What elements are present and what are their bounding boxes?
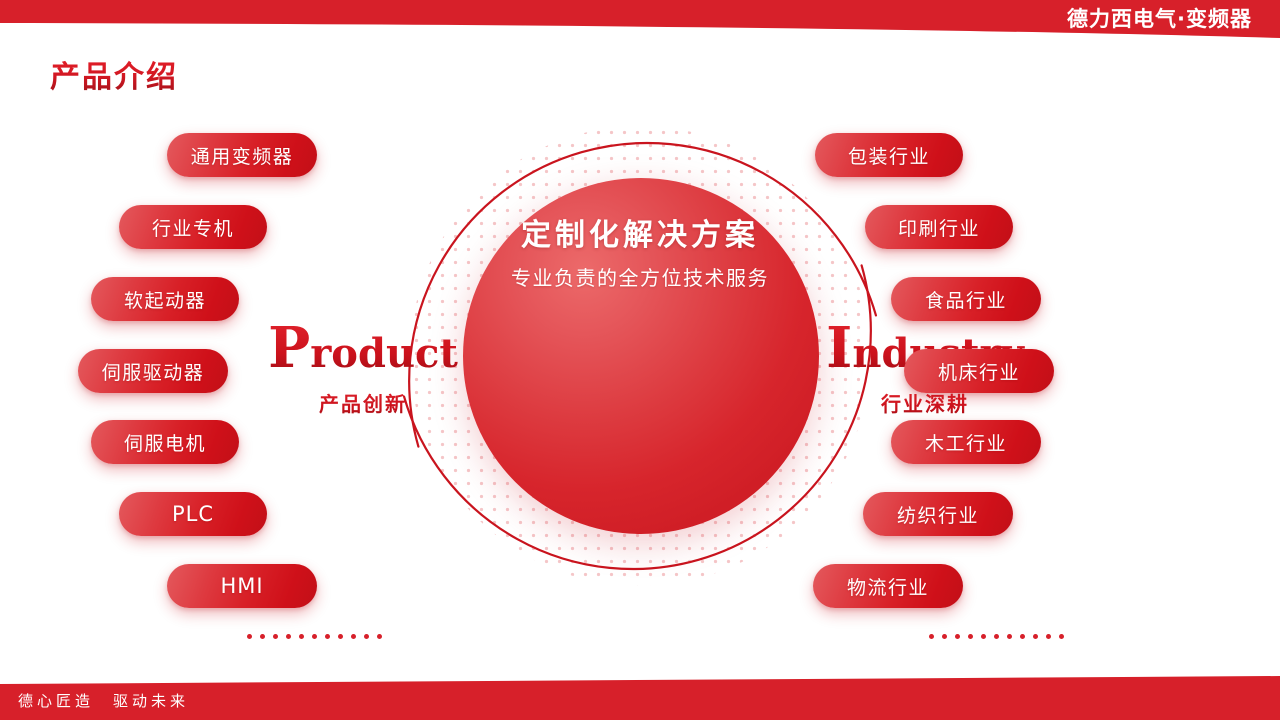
header-band: 德力西电气·变频器 — [0, 0, 1280, 46]
dot — [286, 634, 291, 639]
right-pill-label: 物流行业 — [847, 573, 929, 600]
right-pill-label: 印刷行业 — [898, 214, 980, 241]
center-title: 定制化解决方案 — [366, 210, 914, 254]
left-pill-label: 行业专机 — [152, 214, 234, 241]
left-pill[interactable]: 行业专机 — [119, 205, 267, 249]
dot — [351, 634, 356, 639]
left-pill[interactable]: 软起动器 — [91, 277, 239, 321]
product-heading-initial: P — [268, 315, 310, 381]
dot — [247, 634, 252, 639]
dot — [338, 634, 343, 639]
product-heading-chinese: 产品创新 — [258, 388, 468, 417]
industry-heading-initial: I — [826, 315, 852, 381]
dot — [1046, 634, 1051, 639]
dot — [968, 634, 973, 639]
product-heading-rest: roduct — [310, 330, 458, 377]
left-pill-label: 软起动器 — [124, 286, 206, 313]
left-pill[interactable]: 伺服驱动器 — [78, 349, 228, 393]
right-pill-label: 包装行业 — [848, 142, 930, 169]
left-pill-label: 伺服驱动器 — [102, 358, 205, 385]
slide-canvas: 德力西电气·变频器 产品介绍 定制化解决方案 专业负责的全方位技术服务 Prod… — [0, 0, 1280, 720]
right-pill[interactable]: 纺织行业 — [863, 492, 1013, 536]
right-pill-label: 机床行业 — [938, 358, 1020, 385]
right-pill[interactable]: 印刷行业 — [865, 205, 1013, 249]
left-pill[interactable]: PLC — [119, 492, 267, 536]
footer-band: 德心匠造 驱动未来 — [0, 676, 1280, 720]
product-heading-english: Product — [258, 320, 468, 376]
right-pill[interactable]: 机床行业 — [904, 349, 1054, 393]
center-subtitle: 专业负责的全方位技术服务 — [366, 262, 914, 291]
dot — [1059, 634, 1064, 639]
industry-dots-decoration — [929, 634, 1064, 639]
left-pill-label: 伺服电机 — [124, 429, 206, 456]
right-pill[interactable]: 木工行业 — [891, 420, 1041, 464]
left-pill-label: HMI — [220, 574, 263, 598]
dot — [299, 634, 304, 639]
right-pill[interactable]: 食品行业 — [891, 277, 1041, 321]
dot — [994, 634, 999, 639]
dot — [325, 634, 330, 639]
left-pill-label: 通用变频器 — [191, 142, 294, 169]
dot — [377, 634, 382, 639]
right-pill-label: 食品行业 — [925, 286, 1007, 313]
dot — [942, 634, 947, 639]
dot — [1020, 634, 1025, 639]
brand-logo: 德力西电气·变频器 — [1067, 3, 1252, 33]
right-pill-label: 木工行业 — [925, 429, 1007, 456]
left-pill-label: PLC — [172, 502, 214, 526]
right-pill-label: 纺织行业 — [897, 501, 979, 528]
product-dots-decoration — [247, 634, 382, 639]
footer-slogan: 德心匠造 驱动未来 — [18, 690, 189, 711]
dot — [1033, 634, 1038, 639]
dot — [1007, 634, 1012, 639]
dot — [955, 634, 960, 639]
dot — [929, 634, 934, 639]
product-heading-group: Product 产品创新 — [258, 320, 468, 417]
footer-band-shape — [0, 676, 1280, 720]
dot — [364, 634, 369, 639]
left-pill[interactable]: 通用变频器 — [167, 133, 317, 177]
dot — [312, 634, 317, 639]
dot — [260, 634, 265, 639]
page-title: 产品介绍 — [50, 52, 178, 96]
dot — [981, 634, 986, 639]
right-pill[interactable]: 包装行业 — [815, 133, 963, 177]
left-pill[interactable]: 伺服电机 — [91, 420, 239, 464]
dot — [273, 634, 278, 639]
right-pill[interactable]: 物流行业 — [813, 564, 963, 608]
left-pill[interactable]: HMI — [167, 564, 317, 608]
